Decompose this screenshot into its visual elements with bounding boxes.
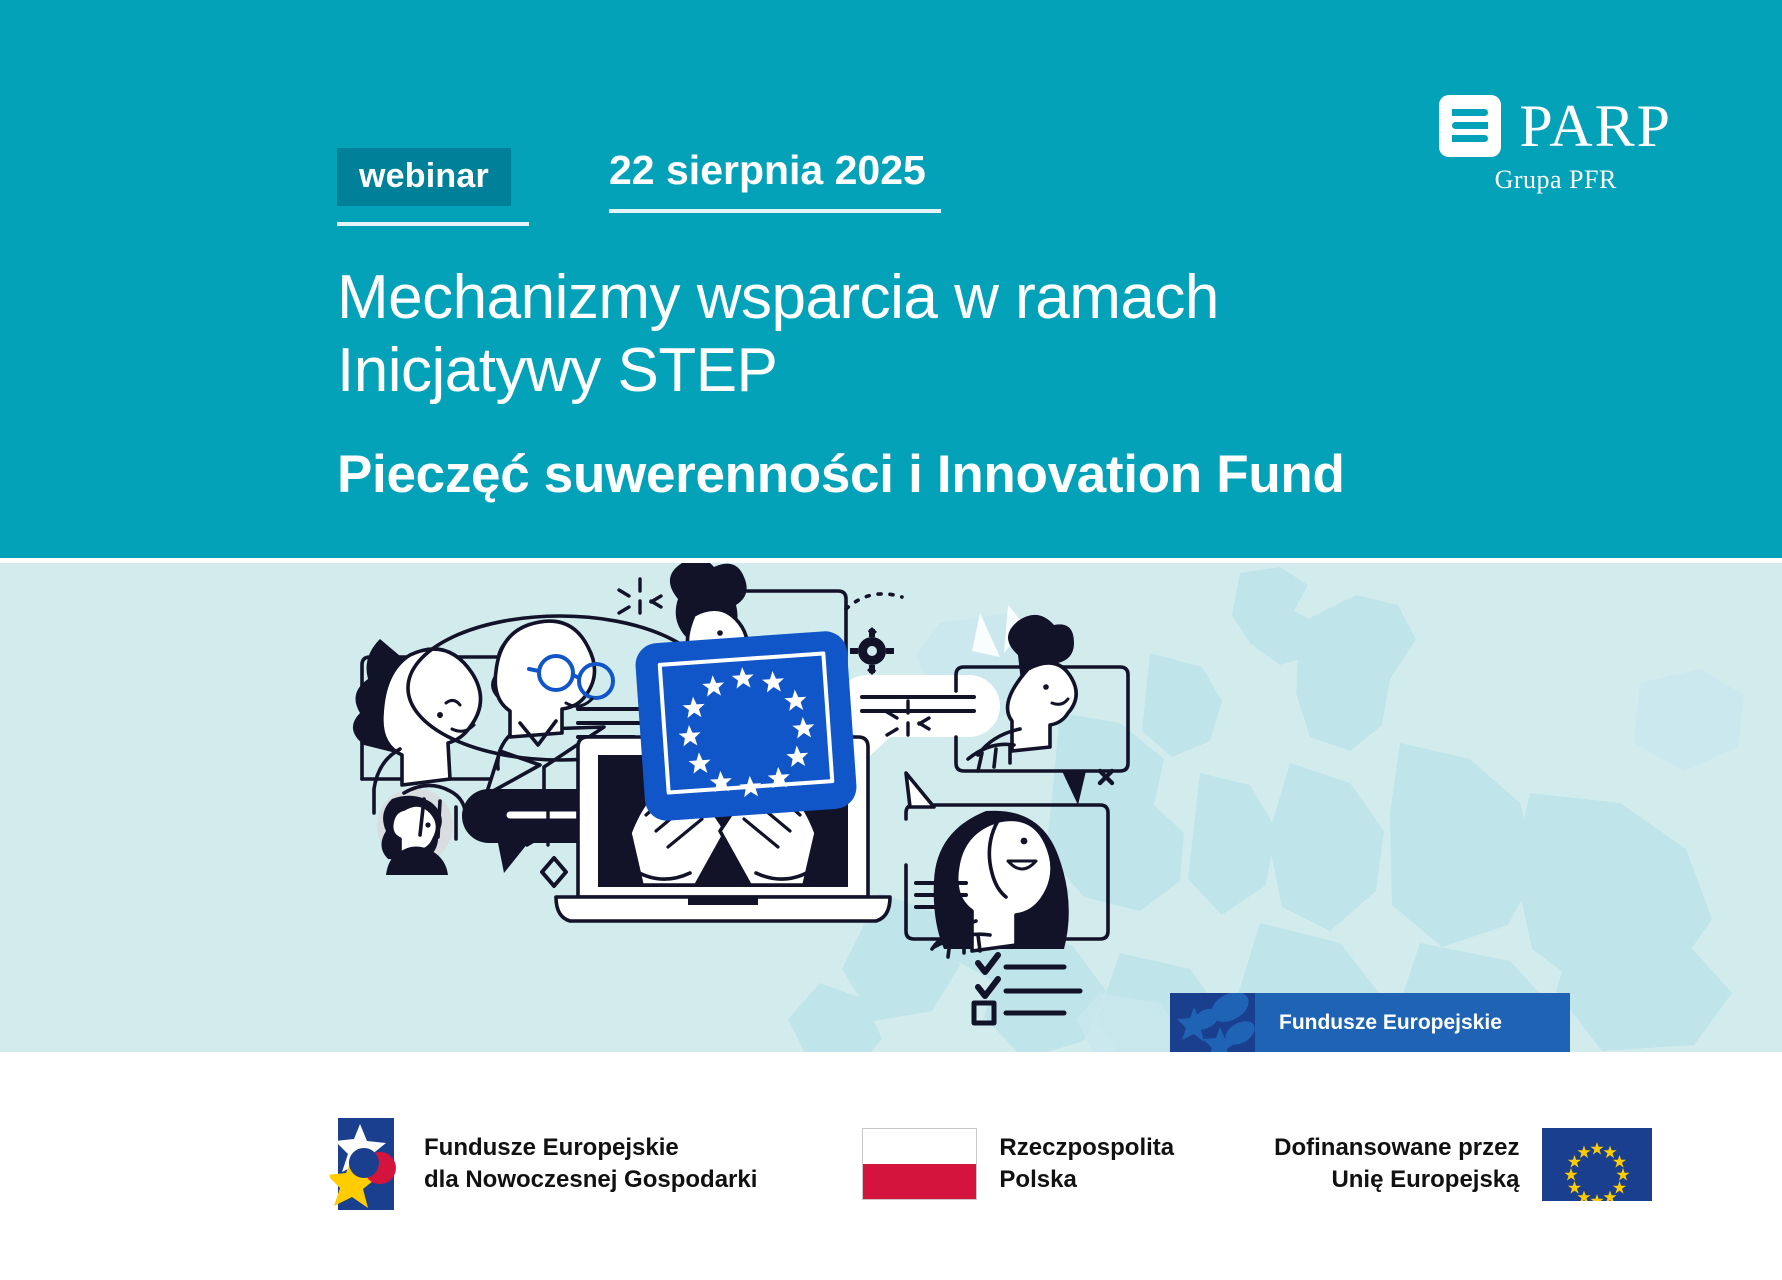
title-block: Mechanizmy wsparcia w ramach Inicjatywy … bbox=[337, 262, 1517, 505]
webinar-badge-underline bbox=[337, 222, 529, 226]
date-underline bbox=[609, 209, 941, 213]
eu-logo-line-2: Unię Europejską bbox=[1274, 1164, 1519, 1196]
page-subtitle: Pieczęć suwerenności i Innovation Fund bbox=[337, 445, 1517, 505]
illustration-band bbox=[0, 563, 1782, 1052]
fe-badge-top-row: Fundusze Europejskie bbox=[1170, 993, 1570, 1053]
rzeczpospolita-polska-logo: Rzeczpospolita Polska bbox=[862, 1128, 1174, 1200]
eu-logo-text: Dofinansowane przez Unię Europejską bbox=[1274, 1132, 1519, 1196]
fe-stars-logo-icon bbox=[330, 1114, 402, 1214]
page-title-line-1: Mechanizmy wsparcia w ramach bbox=[337, 262, 1517, 335]
parp-tagline: Grupa PFR bbox=[1439, 165, 1672, 195]
webinar-badge-wrap: webinar bbox=[337, 148, 529, 226]
footer-logos: Fundusze Europejskie dla Nowoczesnej Gos… bbox=[330, 1114, 1652, 1214]
header-banner: webinar 22 sierpnia 2025 Mechanizmy wspa… bbox=[0, 0, 1782, 558]
date-wrap: 22 sierpnia 2025 bbox=[609, 148, 941, 213]
fe-badge-line-1: Fundusze Europejskie bbox=[1255, 1011, 1502, 1035]
parp-logo-top: PARP bbox=[1439, 95, 1672, 157]
eu-flag-icon bbox=[1542, 1128, 1652, 1201]
eu-logo-line-1: Dofinansowane przez bbox=[1274, 1132, 1519, 1164]
parp-symbol-icon bbox=[1439, 95, 1501, 157]
parp-wordmark: PARP bbox=[1519, 96, 1672, 156]
fe-stars-icon bbox=[1170, 993, 1255, 1053]
fe-logo-line-2: dla Nowoczesnej Gospodarki bbox=[424, 1164, 757, 1196]
footer-logo-bar: Fundusze Europejskie dla Nowoczesnej Gos… bbox=[0, 1052, 1782, 1280]
meta-row: webinar 22 sierpnia 2025 bbox=[337, 148, 941, 226]
fe-logo-text: Fundusze Europejskie dla Nowoczesnej Gos… bbox=[424, 1132, 757, 1196]
page-title-line-2: Inicjatywy STEP bbox=[337, 335, 1517, 408]
webinar-badge: webinar bbox=[337, 148, 511, 206]
european-union-logo: Dofinansowane przez Unię Europejską bbox=[1274, 1128, 1651, 1201]
webinar-illustration bbox=[0, 563, 1782, 1052]
pl-logo-text: Rzeczpospolita Polska bbox=[999, 1132, 1174, 1196]
pl-logo-line-2: Polska bbox=[999, 1164, 1174, 1196]
webinar-poster: webinar 22 sierpnia 2025 Mechanizmy wspa… bbox=[0, 0, 1782, 1280]
fundusze-europejskie-logo: Fundusze Europejskie dla Nowoczesnej Gos… bbox=[330, 1114, 757, 1214]
parp-logo: PARP Grupa PFR bbox=[1439, 95, 1672, 195]
event-date: 22 sierpnia 2025 bbox=[609, 148, 941, 193]
poland-flag-icon bbox=[862, 1128, 977, 1200]
fe-logo-line-1: Fundusze Europejskie bbox=[424, 1132, 757, 1164]
pl-logo-line-1: Rzeczpospolita bbox=[999, 1132, 1174, 1164]
fe-badge-blue-box: Fundusze Europejskie bbox=[1255, 993, 1570, 1053]
